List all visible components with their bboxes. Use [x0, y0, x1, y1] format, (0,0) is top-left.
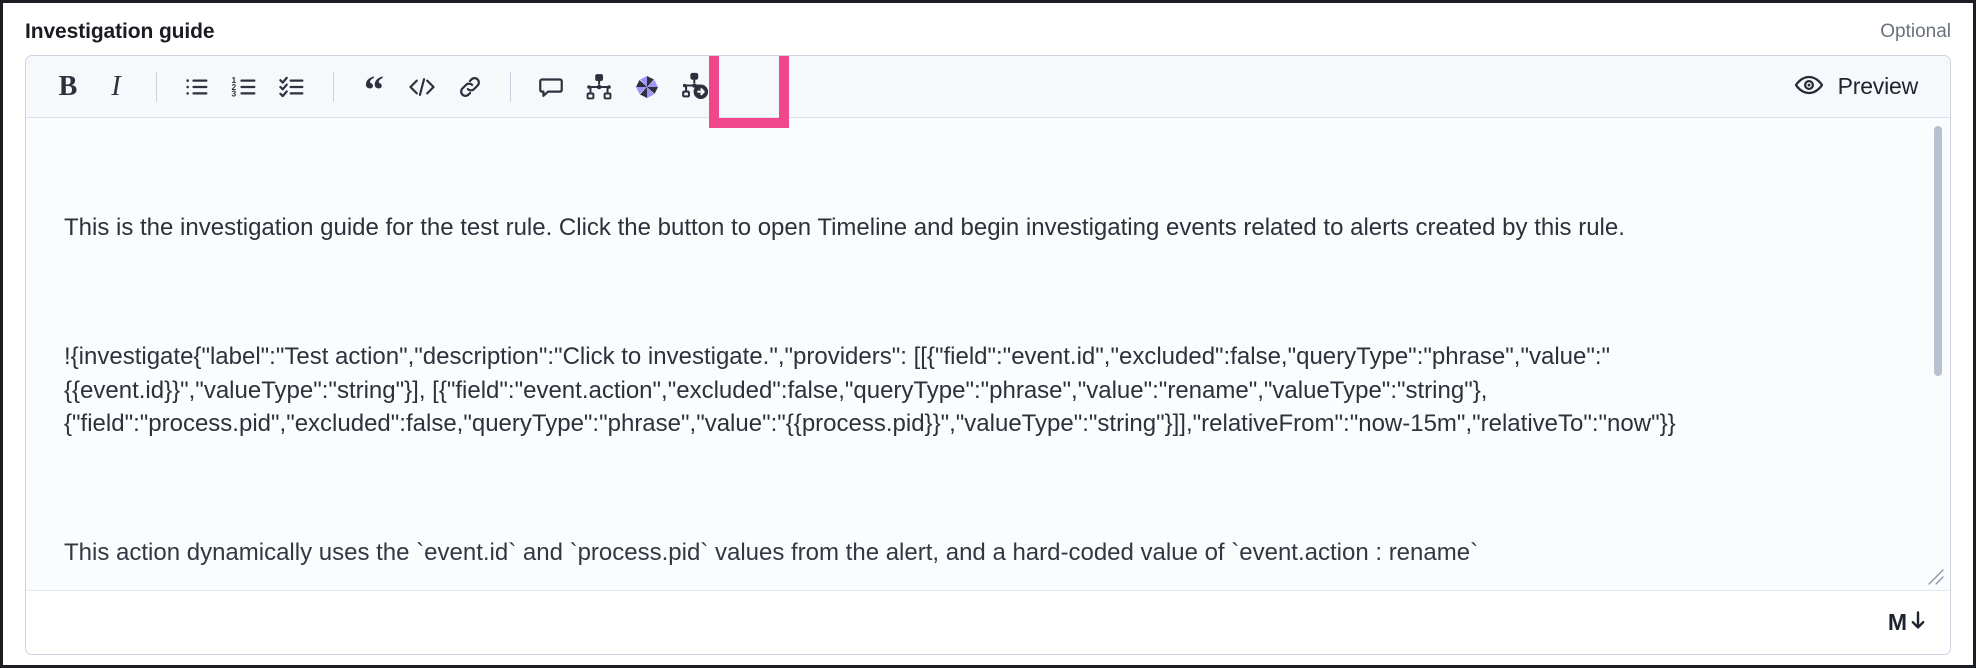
- code-button[interactable]: [398, 65, 446, 109]
- svg-text:3: 3: [231, 88, 236, 98]
- numbered-list-icon: 1 2 3: [231, 73, 259, 101]
- markdown-textarea[interactable]: This is the investigation guide for the …: [26, 118, 1950, 590]
- editor-footer: M: [26, 590, 1950, 654]
- quote-icon: “: [364, 79, 384, 101]
- markdown-help-button[interactable]: M: [1888, 609, 1928, 636]
- insert-investigate-icon: [681, 72, 710, 101]
- content-paragraph-2: !{investigate{"label":"Test action","des…: [64, 340, 1846, 441]
- checklist-button[interactable]: [269, 65, 317, 109]
- bold-icon: B: [59, 73, 78, 101]
- page-title: Investigation guide: [25, 20, 214, 44]
- eye-icon: [1794, 70, 1824, 103]
- bullet-list-button[interactable]: [173, 65, 221, 109]
- toolbar-divider-2: [333, 72, 334, 102]
- link-icon: [456, 73, 484, 101]
- tooltip-icon: [537, 73, 565, 101]
- markdown-arrow-icon: [1908, 609, 1928, 636]
- tooltip-button[interactable]: [527, 65, 575, 109]
- preview-label: Preview: [1838, 73, 1918, 100]
- field-header: Investigation guide Optional: [25, 13, 1951, 51]
- italic-icon: I: [111, 73, 120, 101]
- resize-handle[interactable]: [1923, 564, 1945, 586]
- markdown-badge-label: M: [1888, 611, 1906, 634]
- toolbar-divider-1: [156, 72, 157, 102]
- vertical-scrollbar[interactable]: [1934, 126, 1942, 376]
- toolbar-divider-3: [510, 72, 511, 102]
- code-icon: [407, 73, 437, 101]
- insert-investigate-button[interactable]: [671, 65, 719, 109]
- timeline-icon: [585, 73, 613, 101]
- bullet-list-icon: [183, 73, 211, 101]
- quote-button[interactable]: “: [350, 65, 398, 109]
- markdown-editor: B I: [25, 55, 1951, 655]
- content-paragraph-1: This is the investigation guide for the …: [64, 211, 1846, 245]
- numbered-list-button[interactable]: 1 2 3: [221, 65, 269, 109]
- bold-button[interactable]: B: [44, 65, 92, 109]
- osquery-button[interactable]: [623, 65, 671, 109]
- link-button[interactable]: [446, 65, 494, 109]
- preview-button[interactable]: Preview: [1780, 64, 1936, 110]
- timeline-button[interactable]: [575, 65, 623, 109]
- checklist-icon: [279, 73, 307, 101]
- osquery-icon: [632, 72, 662, 102]
- markdown-content[interactable]: This is the investigation guide for the …: [26, 118, 1886, 590]
- content-paragraph-3: This action dynamically uses the `event.…: [64, 536, 1846, 570]
- italic-button[interactable]: I: [92, 65, 140, 109]
- editor-toolbar: B I: [26, 56, 1950, 118]
- investigation-guide-screenshot: Investigation guide Optional B I: [0, 0, 1976, 668]
- optional-label: Optional: [1880, 21, 1951, 43]
